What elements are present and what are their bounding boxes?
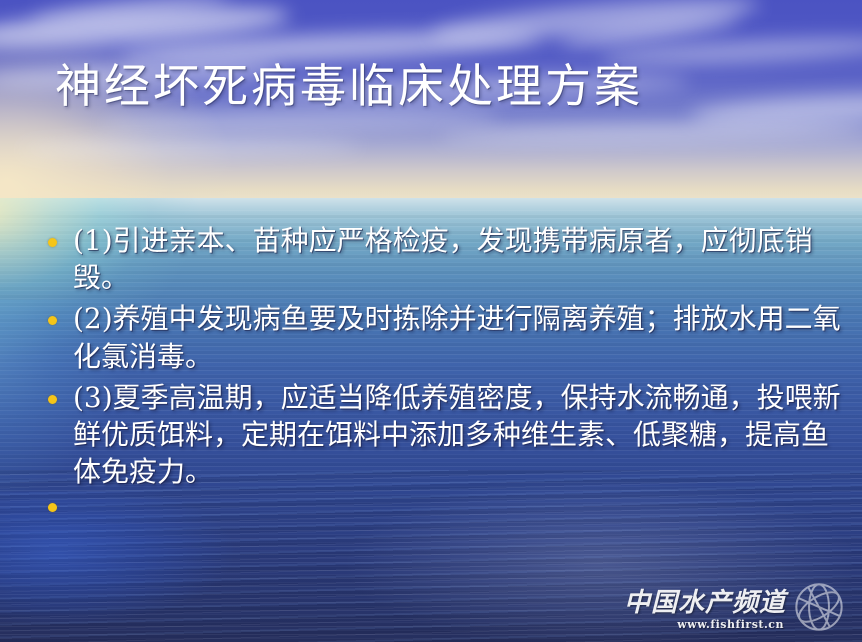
bullet-text: (3)夏季高温期，应适当降低养殖密度，保持水流畅通，投喂新鲜优质饵料，定期在饵料… (73, 379, 848, 491)
slide-title: 神经坏死病毒临床处理方案 (55, 60, 815, 113)
bullet-dot-icon (48, 238, 57, 247)
watermark-text-block: 中国水产频道 www.fishfirst.cn (624, 590, 786, 634)
presentation-slide: 神经坏死病毒临床处理方案 (1)引进亲本、苗种应严格检疫，发现携带病原者，应彻底… (0, 0, 862, 642)
bullet-list: (1)引进亲本、苗种应严格检疫，发现携带病原者，应彻底销毁。 (2)养殖中发现病… (48, 222, 848, 516)
bullet-text: (2)养殖中发现病鱼要及时拣除并进行隔离养殖；排放水用二氧化氯消毒。 (73, 300, 848, 374)
list-item: (2)养殖中发现病鱼要及时拣除并进行隔离养殖；排放水用二氧化氯消毒。 (48, 300, 848, 374)
bullet-text (73, 495, 848, 505)
watermark-brand: 中国水产频道 (624, 590, 786, 616)
watermark: 中国水产频道 www.fishfirst.cn (624, 578, 848, 634)
globe-icon (790, 578, 848, 636)
bullet-dot-icon (48, 503, 57, 512)
list-item (48, 495, 848, 512)
watermark-url: www.fishfirst.cn (677, 619, 784, 630)
bullet-dot-icon (48, 316, 57, 325)
bullet-text: (1)引进亲本、苗种应严格检疫，发现携带病原者，应彻底销毁。 (73, 222, 848, 296)
list-item: (3)夏季高温期，应适当降低养殖密度，保持水流畅通，投喂新鲜优质饵料，定期在饵料… (48, 379, 848, 491)
bullet-dot-icon (48, 395, 57, 404)
list-item: (1)引进亲本、苗种应严格检疫，发现携带病原者，应彻底销毁。 (48, 222, 848, 296)
